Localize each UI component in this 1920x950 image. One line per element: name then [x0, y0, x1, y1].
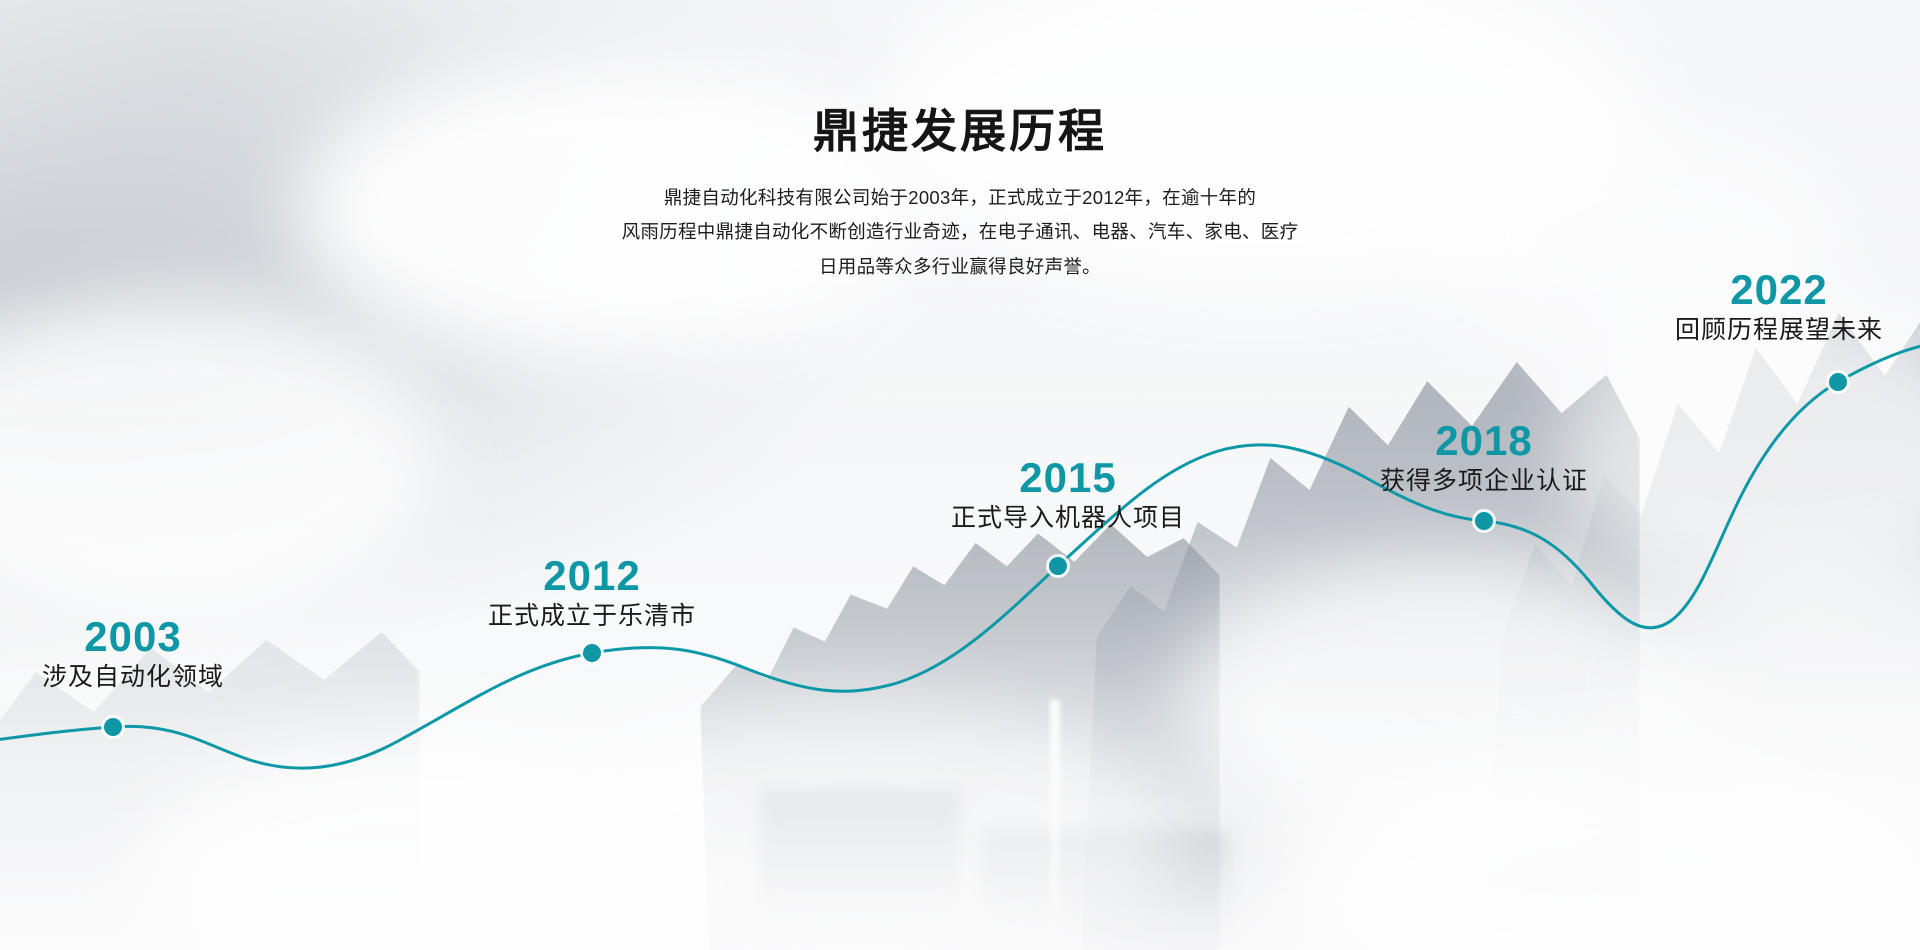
milestone-year: 2022 [1675, 268, 1883, 312]
milestone-description: 正式成立于乐清市 [488, 600, 696, 634]
milestone-year: 2012 [488, 554, 696, 598]
milestone-description: 涉及自动化领域 [42, 661, 224, 695]
milestone-2018[interactable]: 2018获得多项企业认证 [1380, 419, 1588, 499]
header-block: 鼎捷发展历程 鼎捷自动化科技有限公司始于2003年，正式成立于2012年，在逾十… [0, 0, 1920, 284]
timeline-line [0, 344, 1920, 768]
milestone-year: 2003 [42, 615, 224, 659]
subtitle-line-3: 日用品等众多行业赢得良好声誉。 [0, 250, 1920, 284]
subtitle-line-2: 风雨历程中鼎捷自动化不断创造行业奇迹，在电子通讯、电器、汽车、家电、医疗 [0, 215, 1920, 249]
timeline-node-2018[interactable] [1475, 512, 1493, 530]
timeline-node-2012[interactable] [583, 644, 601, 662]
milestone-description: 回顾历程展望未来 [1675, 314, 1883, 348]
timeline-node-2003[interactable] [104, 718, 122, 736]
timeline-node-2022[interactable] [1829, 373, 1847, 391]
milestone-description: 正式导入机器人项目 [951, 502, 1185, 536]
milestone-2015[interactable]: 2015正式导入机器人项目 [951, 456, 1185, 536]
milestone-year: 2015 [951, 456, 1185, 500]
page-title: 鼎捷发展历程 [0, 104, 1920, 159]
milestone-2012[interactable]: 2012正式成立于乐清市 [488, 554, 696, 634]
milestone-year: 2018 [1380, 419, 1588, 463]
milestone-description: 获得多项企业认证 [1380, 465, 1588, 499]
page-subtitle: 鼎捷自动化科技有限公司始于2003年，正式成立于2012年，在逾十年的 风雨历程… [0, 181, 1920, 284]
subtitle-line-1: 鼎捷自动化科技有限公司始于2003年，正式成立于2012年，在逾十年的 [0, 181, 1920, 215]
timeline-node-2015[interactable] [1049, 557, 1067, 575]
milestone-2003[interactable]: 2003涉及自动化领域 [42, 615, 224, 695]
infographic-canvas: 鼎捷发展历程 鼎捷自动化科技有限公司始于2003年，正式成立于2012年，在逾十… [0, 0, 1920, 950]
milestone-2022[interactable]: 2022回顾历程展望未来 [1675, 268, 1883, 348]
